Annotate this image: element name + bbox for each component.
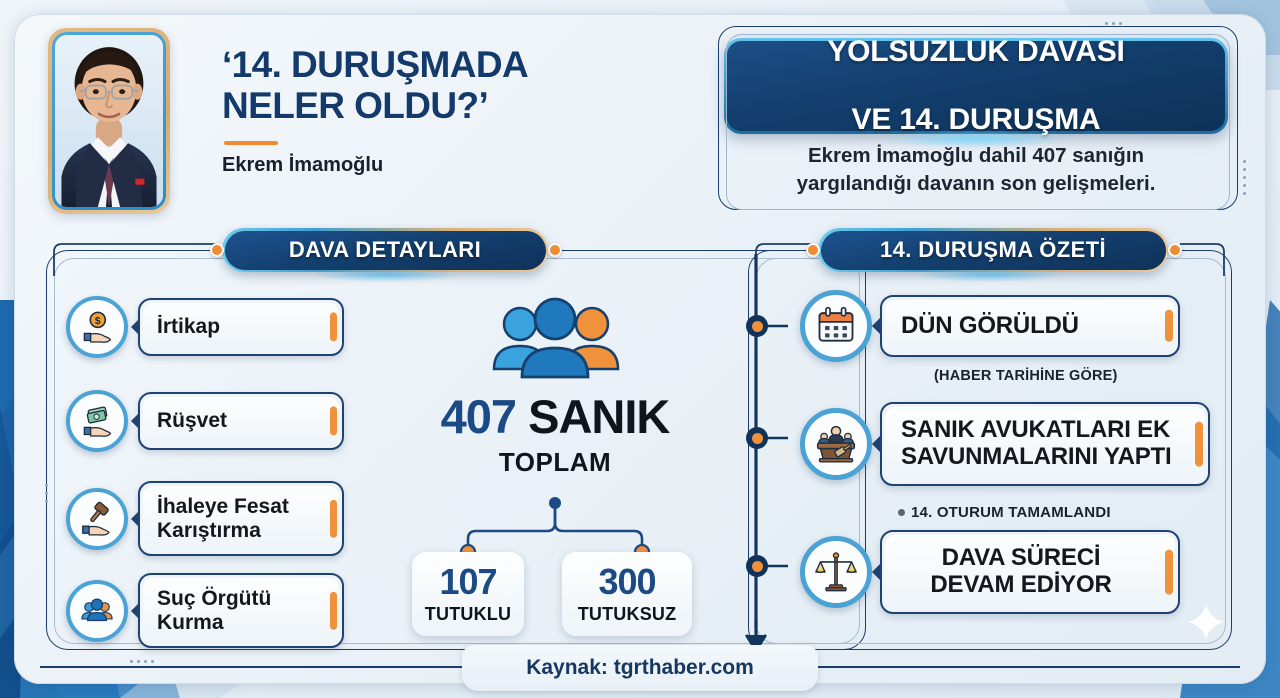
- list-item-card-inner: İhaleye Fesat Karıştırma: [143, 486, 339, 551]
- timeline-event-notch: [872, 316, 882, 336]
- stat-branch-connector: [400, 497, 710, 557]
- sparkle-decoration: [1186, 602, 1226, 642]
- section-badge-left-label: DAVA DETAYLARI: [289, 237, 481, 263]
- scales-of-justice-glyph: [814, 550, 858, 594]
- timeline-event-text: DAVA SÜRECİ DEVAM EDİYOR: [930, 545, 1111, 599]
- bullet-dot-icon: [898, 509, 905, 516]
- stat-card-detained-value: 107: [439, 564, 496, 600]
- list-item-card-inner: Rüşvet: [143, 397, 339, 445]
- section-badge-right-label: 14. DURUŞMA ÖZETİ: [880, 237, 1106, 263]
- timeline-event-note: (HABER TARİHİNE GÖRE): [934, 368, 1118, 384]
- list-item[interactable]: $ İrtikap: [66, 296, 344, 358]
- people-group-glyph: [78, 592, 116, 630]
- list-item-notch: [131, 602, 140, 620]
- timeline-event-bullet: 14. OTURUM TAMAMLANDI: [898, 504, 1111, 521]
- person-name: Ekrem İmamoğlu: [222, 154, 692, 177]
- total-defendants-word: SANIK: [528, 390, 669, 443]
- list-item-notch: [131, 510, 140, 528]
- timeline-dot-2: [746, 427, 768, 449]
- timeline-event-card: DÜN GÖRÜLDÜ: [880, 295, 1180, 357]
- list-item-card-inner: İrtikap: [143, 303, 339, 351]
- timeline-event[interactable]: SANIK AVUKATLARI EK SAVUNMALARINI YAPTI: [800, 402, 1210, 486]
- list-item-card: Rüşvet: [138, 392, 344, 450]
- timeline-event-card-inner: SANIK AVUKATLARI EK SAVUNMALARINI YAPTI: [885, 407, 1205, 481]
- timeline-dot-3: [746, 555, 768, 577]
- courtroom-icon: [800, 408, 872, 480]
- courtroom-glyph: [814, 422, 858, 466]
- list-item-label: İhaleye Fesat Karıştırma: [157, 495, 289, 542]
- list-item-label-line-2: Karıştırma: [157, 519, 261, 542]
- timeline-track: [738, 248, 808, 658]
- stat-card-detained: 107 TUTUKLU: [412, 552, 524, 636]
- stat-card-detained-label: TUTUKLU: [425, 604, 511, 625]
- list-item[interactable]: İhaleye Fesat Karıştırma: [66, 481, 344, 556]
- coin-in-hand-icon: $: [66, 296, 128, 358]
- section-badge-left: DAVA DETAYLARI: [222, 228, 548, 272]
- section-badge-left-inner: DAVA DETAYLARI: [225, 231, 546, 270]
- timeline-event-text-line-1: SANIK AVUKATLARI EK: [901, 416, 1170, 443]
- dots-decoration-right: [1243, 160, 1246, 195]
- timeline-event[interactable]: DÜN GÖRÜLDÜ: [800, 290, 1180, 362]
- portrait-frame: [48, 28, 170, 214]
- list-item-accent-bar: [330, 499, 337, 537]
- page-title-block: ‘14. DURUŞMADA NELER OLDU?’ Ekrem İmamoğ…: [222, 44, 692, 177]
- calendar-glyph: [814, 304, 858, 348]
- gavel-in-hand-glyph: [78, 500, 116, 538]
- total-defendants-stat: 407 SANIK TOPLAM: [400, 295, 710, 478]
- portrait-inner-frame: [52, 32, 166, 210]
- gavel-in-hand-icon: [66, 488, 128, 550]
- timeline-event-card: SANIK AVUKATLARI EK SAVUNMALARINI YAPTI: [880, 402, 1210, 486]
- timeline-event-card-inner: DÜN GÖRÜLDÜ: [885, 300, 1175, 352]
- people-group-glyph-large: [480, 297, 630, 385]
- list-item-notch: [131, 318, 140, 336]
- scales-of-justice-icon: [800, 536, 872, 608]
- total-defendants-number: 407: [441, 390, 516, 443]
- list-item[interactable]: Suç Örgütü Kurma: [66, 573, 344, 648]
- list-item-label: Suç Örgütü Kurma: [157, 587, 271, 634]
- title-underline-rule: [224, 141, 278, 145]
- list-item-label: İrtikap: [157, 315, 220, 339]
- timeline-event-accent-bar: [1195, 422, 1203, 467]
- coin-in-hand-glyph: $: [78, 308, 116, 346]
- timeline-event-text-line-1: DAVA SÜRECİ: [942, 544, 1101, 571]
- page-title-line-2: NELER OLDU?’: [222, 85, 488, 126]
- list-item-card-inner: Suç Örgütü Kurma: [143, 578, 339, 643]
- portrait-illustration: [55, 35, 163, 207]
- timeline-event-text: DÜN GÖRÜLDÜ: [901, 313, 1079, 340]
- total-defendants-value: 407 SANIK: [400, 393, 710, 440]
- timeline-event-card: DAVA SÜRECİ DEVAM EDİYOR: [880, 530, 1180, 614]
- list-item-label-line-1: Suç Örgütü: [157, 587, 271, 610]
- stat-card-not-detained: 300 TUTUKSUZ: [562, 552, 692, 636]
- right-badge-dot-end: [1168, 243, 1182, 257]
- svg-text:$: $: [95, 316, 101, 327]
- right-badge-dot-start: [806, 243, 820, 257]
- cash-in-hand-icon: [66, 390, 128, 452]
- list-item-label-line-2: Kurma: [157, 611, 224, 634]
- page-title-line-1: ‘14. DURUŞMADA: [222, 44, 528, 85]
- list-item-notch: [131, 412, 140, 430]
- dots-decoration-left: [45, 484, 48, 503]
- list-item-accent-bar: [330, 406, 337, 435]
- people-group-icon: [66, 580, 128, 642]
- dots-decoration-bottom-left: [130, 660, 154, 663]
- list-item-card: Suç Örgütü Kurma: [138, 573, 344, 648]
- timeline-event-notch: [872, 434, 882, 454]
- list-item-label: Rüşvet: [157, 409, 227, 433]
- section-badge-right: 14. DURUŞMA ÖZETİ: [818, 228, 1168, 272]
- timeline-event-text-line-2: SAVUNMALARINI YAPTI: [901, 443, 1171, 470]
- timeline-event-text: SANIK AVUKATLARI EK SAVUNMALARINI YAPTI: [901, 417, 1171, 471]
- people-group-icon: [400, 295, 710, 385]
- source-text: Kaynak: tgrthaber.com: [526, 656, 754, 680]
- list-item-accent-bar: [330, 312, 337, 341]
- section-badge-right-inner: 14. DURUŞMA ÖZETİ: [821, 231, 1166, 270]
- timeline-event-text-line-2: DEVAM EDİYOR: [930, 571, 1111, 598]
- page-title: ‘14. DURUŞMADA NELER OLDU?’: [222, 44, 692, 127]
- timeline-event-accent-bar: [1165, 550, 1173, 595]
- list-item[interactable]: Rüşvet: [66, 390, 344, 452]
- list-item-card: İhaleye Fesat Karıştırma: [138, 481, 344, 556]
- left-badge-dot-start: [210, 243, 224, 257]
- cash-in-hand-glyph: [78, 402, 116, 440]
- timeline-event-card-inner: DAVA SÜRECİ DEVAM EDİYOR: [885, 535, 1175, 609]
- avatar: [55, 35, 163, 207]
- timeline-event[interactable]: DAVA SÜRECİ DEVAM EDİYOR: [800, 530, 1180, 614]
- timeline-event-accent-bar: [1165, 310, 1173, 342]
- dots-decoration-top: [1105, 22, 1122, 25]
- left-badge-dot-end: [548, 243, 562, 257]
- calendar-icon: [800, 290, 872, 362]
- timeline-dot-1: [746, 315, 768, 337]
- header-right-outline-inner: [726, 34, 1230, 210]
- stat-card-not-detained-label: TUTUKSUZ: [578, 604, 677, 625]
- total-defendants-label: TOPLAM: [400, 447, 710, 478]
- list-item-accent-bar: [330, 591, 337, 629]
- source-badge: Kaynak: tgrthaber.com: [462, 645, 818, 691]
- list-item-label-line-1: İhaleye Fesat: [157, 495, 289, 518]
- timeline-event-notch: [872, 562, 882, 582]
- timeline-event-bullet-text: 14. OTURUM TAMAMLANDI: [911, 504, 1111, 521]
- stat-card-not-detained-value: 300: [598, 564, 655, 600]
- list-item-card: İrtikap: [138, 298, 344, 356]
